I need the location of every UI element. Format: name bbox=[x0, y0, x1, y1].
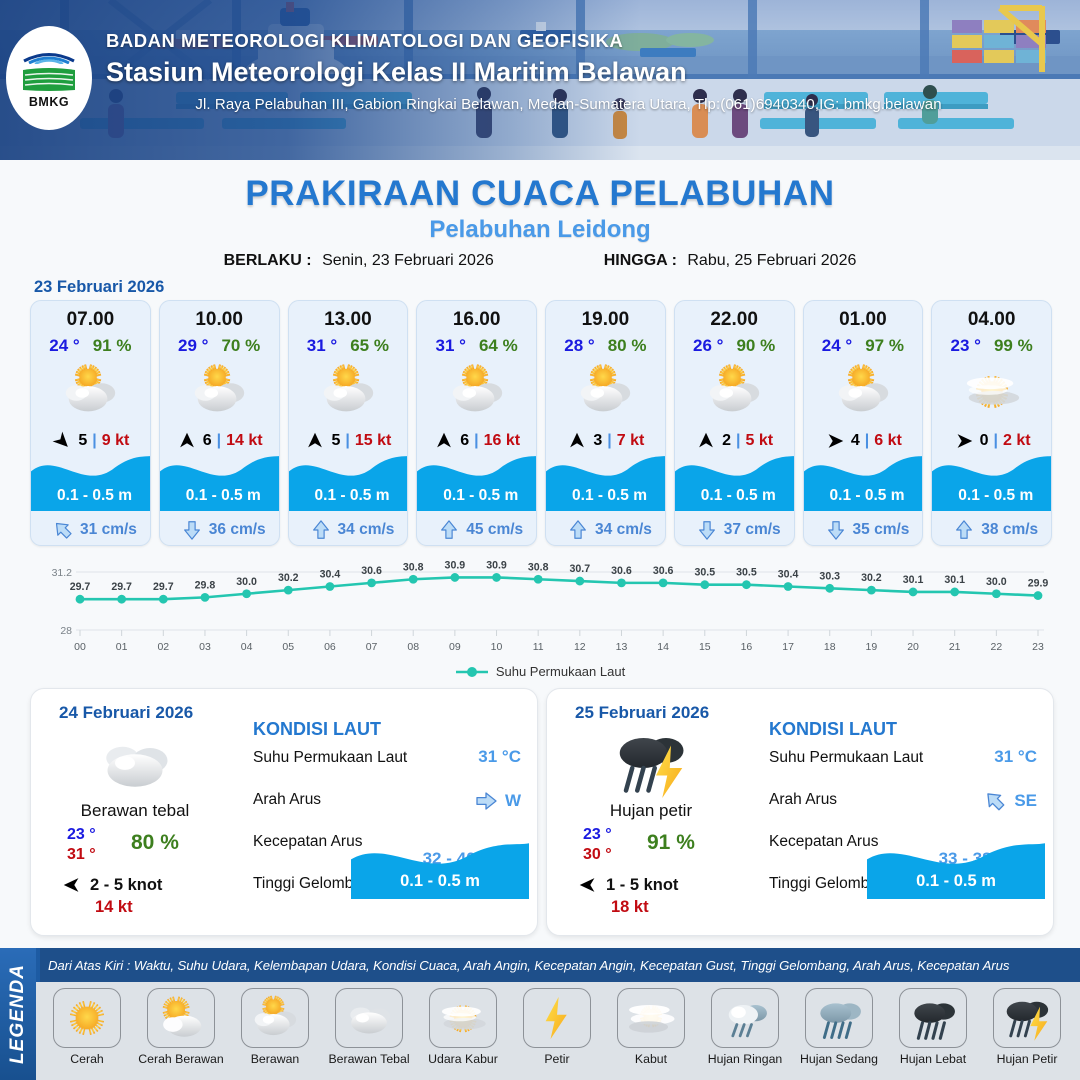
x-axis-tick: 13 bbox=[616, 641, 628, 653]
legend-item-label: Kabut bbox=[635, 1053, 667, 1067]
sst-line bbox=[80, 577, 1038, 599]
card-wave-height: 0.1 - 0.5 m bbox=[31, 487, 151, 505]
card-time: 07.00 bbox=[31, 309, 150, 331]
current-direction-arrow-s bbox=[310, 519, 332, 541]
panel-date: 24 Februari 2026 bbox=[59, 703, 193, 723]
x-axis-tick: 21 bbox=[949, 641, 961, 653]
card-air-temp: 23 ° bbox=[951, 336, 981, 356]
panel-wave-height: 0.1 - 0.5 m bbox=[867, 872, 1045, 891]
card-time: 04.00 bbox=[932, 309, 1051, 331]
legend-item-label: Petir bbox=[544, 1053, 569, 1067]
card-temp-hum: 24 ° 97 % bbox=[804, 336, 923, 356]
sst-point bbox=[242, 589, 251, 598]
x-axis-tick: 10 bbox=[491, 641, 503, 653]
moderate-rain-icon bbox=[813, 992, 865, 1044]
card-wave-height: 0.1 - 0.5 m bbox=[546, 487, 666, 505]
light-rain-icon bbox=[719, 992, 771, 1044]
panel-temp-max: 31 ° bbox=[67, 845, 96, 865]
sst-point bbox=[700, 580, 709, 589]
sst-point-label: 29.7 bbox=[70, 581, 91, 593]
sst-point-label: 30.0 bbox=[986, 576, 1007, 588]
x-axis-tick: 22 bbox=[991, 641, 1003, 653]
card-wave-height: 0.1 - 0.5 m bbox=[289, 487, 409, 505]
card-wave-graphic: 0.1 - 0.5 m bbox=[417, 449, 537, 511]
y-axis-tick-min: 28 bbox=[60, 625, 72, 637]
card-wave-graphic: 0.1 - 0.5 m bbox=[31, 449, 151, 511]
partly-cloudy-icon bbox=[317, 360, 379, 422]
sst-point bbox=[409, 575, 418, 584]
card-gust: 2 kt bbox=[1003, 432, 1031, 450]
panel-wave-graphic: 0.1 - 0.5 m bbox=[867, 837, 1045, 899]
panel-weather-icon bbox=[591, 727, 711, 799]
card-air-temp: 31 ° bbox=[307, 336, 337, 356]
current-direction-arrow-s bbox=[953, 519, 975, 541]
card-time: 22.00 bbox=[675, 309, 794, 331]
card-gust: 7 kt bbox=[617, 432, 645, 450]
chart-legend: Suhu Permukaan Laut bbox=[28, 664, 1052, 679]
card-wave-graphic: 0.1 - 0.5 m bbox=[675, 449, 795, 511]
card-wave-graphic: 0.1 - 0.5 m bbox=[932, 449, 1052, 511]
legend-item: Hujan Petir bbox=[980, 988, 1074, 1067]
valid-to-value: Rabu, 25 Februari 2026 bbox=[687, 252, 856, 269]
panel-humidity: 80 % bbox=[131, 831, 179, 855]
forecast-card: 22.00 26 ° 90 % 2 | 5 kt bbox=[674, 300, 795, 546]
x-axis-tick: 20 bbox=[907, 641, 919, 653]
card-current-speed: 34 cm/s bbox=[595, 521, 652, 539]
thunderstorm-icon bbox=[611, 723, 691, 803]
card-wave-height: 0.1 - 0.5 m bbox=[675, 487, 795, 505]
panel-row-label: Arah Arus bbox=[769, 791, 837, 809]
legend-item: Cerah bbox=[40, 988, 134, 1067]
panel-sea-title: KONDISI LAUT bbox=[769, 719, 897, 740]
card-humidity: 64 % bbox=[479, 336, 518, 356]
legend-item-icon-box bbox=[993, 988, 1061, 1048]
partly-cloudy-icon bbox=[59, 360, 121, 422]
card-humidity: 70 % bbox=[221, 336, 260, 356]
thunderstorm-icon bbox=[1001, 992, 1053, 1044]
lightning-icon bbox=[531, 992, 583, 1044]
wind-direction-arrow-e bbox=[61, 874, 83, 896]
x-axis-tick: 02 bbox=[157, 641, 169, 653]
sst-point bbox=[284, 586, 293, 595]
sst-point bbox=[617, 578, 626, 587]
card-wave-height: 0.1 - 0.5 m bbox=[932, 487, 1052, 505]
sst-point bbox=[117, 595, 126, 604]
heavy-rain-icon bbox=[907, 992, 959, 1044]
panel-condition: Berawan tebal bbox=[45, 801, 225, 821]
current-direction-arrow-s bbox=[438, 519, 460, 541]
sst-point-label: 30.6 bbox=[611, 565, 632, 577]
x-axis-tick: 19 bbox=[866, 641, 878, 653]
legend-item-label: Cerah bbox=[70, 1053, 104, 1067]
card-wind-separator: | bbox=[736, 432, 740, 450]
card-current: 45 cm/s bbox=[417, 519, 537, 541]
card-wave-height: 0.1 - 0.5 m bbox=[804, 487, 924, 505]
panel-row: Suhu Permukaan Laut31 °C bbox=[769, 745, 1041, 787]
panel-row: Arah Arus W bbox=[253, 787, 525, 829]
sst-point bbox=[159, 595, 168, 604]
legend-item: Hujan Ringan bbox=[698, 988, 792, 1067]
card-weather-icon bbox=[932, 358, 1051, 424]
sst-point bbox=[742, 580, 751, 589]
card-air-temp: 31 ° bbox=[436, 336, 466, 356]
sst-point bbox=[575, 577, 584, 586]
sst-point bbox=[76, 595, 85, 604]
card-temp-hum: 26 ° 90 % bbox=[675, 336, 794, 356]
x-axis-tick: 14 bbox=[657, 641, 669, 653]
card-temp-hum: 29 ° 70 % bbox=[160, 336, 279, 356]
card-wind-separator: | bbox=[92, 432, 96, 450]
sst-point bbox=[1034, 591, 1043, 600]
legend-item-icon-box bbox=[899, 988, 967, 1048]
valid-to-label: HINGGA : bbox=[604, 252, 677, 269]
card-humidity: 91 % bbox=[93, 336, 132, 356]
sst-point bbox=[659, 578, 668, 587]
panel-row-value: 31 °C bbox=[478, 747, 521, 767]
card-wind-speed: 5 bbox=[78, 432, 87, 450]
sst-point-label: 30.4 bbox=[320, 569, 341, 581]
sst-point bbox=[326, 582, 335, 591]
panel-temps: 23 ° 31 ° bbox=[67, 825, 96, 865]
sst-point bbox=[201, 593, 210, 602]
card-gust: 16 kt bbox=[484, 432, 520, 450]
sst-point-label: 30.9 bbox=[445, 559, 466, 571]
partly-cloudy-icon bbox=[249, 992, 301, 1044]
card-air-temp: 26 ° bbox=[693, 336, 723, 356]
logo-green-waves bbox=[21, 66, 77, 92]
panel-gust: 14 kt bbox=[95, 898, 133, 917]
panel-row-value-text: SE bbox=[1014, 791, 1037, 811]
panel-row-value: W bbox=[474, 789, 521, 813]
header-text-block: BADAN METEOROLOGI KLIMATOLOGI DAN GEOFIS… bbox=[106, 30, 1066, 113]
x-axis-tick: 00 bbox=[74, 641, 86, 653]
panel-row-value-text: 31 °C bbox=[994, 747, 1037, 767]
sst-point bbox=[367, 578, 376, 587]
sst-point-label: 29.9 bbox=[1028, 578, 1049, 590]
current-direction-arrow-s bbox=[567, 519, 589, 541]
card-weather-icon bbox=[675, 358, 794, 424]
panel-weather-icon bbox=[75, 727, 195, 799]
partly-cloudy-icon bbox=[446, 360, 508, 422]
sst-point-label: 30.3 bbox=[819, 570, 840, 582]
x-axis-tick: 11 bbox=[533, 641, 544, 653]
sst-point bbox=[534, 575, 543, 584]
panel-row-value: 31 °C bbox=[994, 747, 1037, 767]
panel-temps: 23 ° 30 ° bbox=[583, 825, 612, 865]
card-wave-graphic: 0.1 - 0.5 m bbox=[804, 449, 924, 511]
card-gust: 5 kt bbox=[746, 432, 774, 450]
card-time: 10.00 bbox=[160, 309, 279, 331]
forecast-card: 04.00 23 ° 99 % 0 | 2 kt bbox=[931, 300, 1052, 546]
sst-point-label: 29.7 bbox=[111, 581, 132, 593]
sst-point-label: 30.1 bbox=[903, 574, 924, 586]
x-axis-tick: 08 bbox=[407, 641, 419, 653]
legend-icon-row: Cerah Cerah Berawan bbox=[36, 982, 1080, 1080]
sst-point-label: 30.0 bbox=[236, 576, 257, 588]
partly-cloudy-icon bbox=[832, 360, 894, 422]
sst-point bbox=[825, 584, 834, 593]
x-axis-tick: 09 bbox=[449, 641, 461, 653]
panel-temp-min: 23 ° bbox=[583, 825, 612, 845]
panel-gust: 18 kt bbox=[611, 898, 649, 917]
panel-row-value-text: W bbox=[505, 791, 521, 811]
x-axis-tick: 03 bbox=[199, 641, 211, 653]
panel-row: Suhu Permukaan Laut31 °C bbox=[253, 745, 525, 787]
sst-point-label: 29.8 bbox=[195, 579, 216, 591]
forecast-card: 01.00 24 ° 97 % 4 | 6 kt bbox=[803, 300, 924, 546]
sst-point-label: 30.2 bbox=[278, 572, 299, 584]
legend-item-icon-box bbox=[523, 988, 591, 1048]
panel-row: Arah Arus SE bbox=[769, 787, 1041, 829]
sst-chart: 31.2280001020304050607080910111213141516… bbox=[28, 556, 1052, 686]
sunny-icon bbox=[61, 992, 113, 1044]
legend-item-label: Cerah Berawan bbox=[138, 1053, 223, 1067]
card-humidity: 97 % bbox=[865, 336, 904, 356]
current-direction-arrow-w bbox=[474, 789, 498, 813]
daily-panel-day1: 24 Februari 2026 Berawan tebal 23 ° 31 °… bbox=[30, 688, 538, 936]
legend-item: Hujan Sedang bbox=[792, 988, 886, 1067]
current-direction-arrow-se bbox=[983, 789, 1007, 813]
sst-point bbox=[950, 588, 959, 597]
validity-row: BERLAKU : Senin, 23 Februari 2026 HINGGA… bbox=[0, 252, 1080, 270]
legend-item-icon-box bbox=[335, 988, 403, 1048]
card-wind-separator: | bbox=[345, 432, 349, 450]
haze-icon bbox=[437, 992, 489, 1044]
sst-point-label: 30.7 bbox=[570, 563, 591, 575]
legend-item: Hujan Lebat bbox=[886, 988, 980, 1067]
x-axis-tick: 07 bbox=[366, 641, 378, 653]
legend-item-icon-box bbox=[617, 988, 685, 1048]
card-wave-graphic: 0.1 - 0.5 m bbox=[289, 449, 409, 511]
panel-wave-graphic: 0.1 - 0.5 m bbox=[351, 837, 529, 899]
card-wind-speed: 6 bbox=[460, 432, 469, 450]
legend-item-icon-box bbox=[711, 988, 779, 1048]
card-weather-icon bbox=[417, 358, 536, 424]
card-current: 37 cm/s bbox=[675, 519, 795, 541]
overcast-icon bbox=[343, 992, 395, 1044]
current-direction-arrow-n bbox=[696, 519, 718, 541]
legend-item-label: Berawan Tebal bbox=[328, 1053, 409, 1067]
card-air-temp: 29 ° bbox=[178, 336, 208, 356]
forecast-date-label: 23 Februari 2026 bbox=[34, 278, 164, 297]
card-weather-icon bbox=[31, 358, 150, 424]
x-axis-tick: 12 bbox=[574, 641, 586, 653]
valid-to: HINGGA : Rabu, 25 Februari 2026 bbox=[604, 252, 857, 270]
card-current-speed: 31 cm/s bbox=[80, 521, 137, 539]
legend-item: Cerah Berawan bbox=[134, 988, 228, 1067]
page-subtitle: Pelabuhan Leidong bbox=[0, 216, 1080, 244]
legend-item-icon-box bbox=[53, 988, 121, 1048]
legend-item-label: Berawan bbox=[251, 1053, 300, 1067]
logo-label: BMKG bbox=[29, 95, 69, 109]
card-air-temp: 24 ° bbox=[822, 336, 852, 356]
card-current: 34 cm/s bbox=[289, 519, 409, 541]
forecast-card: 07.00 24 ° 91 % 5 | 9 kt bbox=[30, 300, 151, 546]
card-wind-speed: 5 bbox=[331, 432, 340, 450]
panel-row-label: Kecepatan Arus bbox=[253, 833, 362, 851]
overcast-icon bbox=[95, 723, 175, 803]
card-wind-speed: 3 bbox=[593, 432, 602, 450]
card-wind-speed: 2 bbox=[722, 432, 731, 450]
card-wave-height: 0.1 - 0.5 m bbox=[417, 487, 537, 505]
daily-panel-day2: 25 Februari 2026 Hujan petir 23 ° 30 ° 9… bbox=[546, 688, 1054, 936]
sst-point-label: 30.2 bbox=[861, 572, 882, 584]
card-wave-graphic: 0.1 - 0.5 m bbox=[546, 449, 666, 511]
sun-cloud-icon bbox=[155, 992, 207, 1044]
card-current: 31 cm/s bbox=[31, 519, 151, 541]
card-current: 38 cm/s bbox=[932, 519, 1052, 541]
sst-point-label: 29.7 bbox=[153, 581, 174, 593]
sst-point-label: 30.5 bbox=[694, 567, 715, 579]
card-time: 13.00 bbox=[289, 309, 408, 331]
card-current-speed: 35 cm/s bbox=[853, 521, 910, 539]
current-direction-arrow-n bbox=[181, 519, 203, 541]
valid-from-value: Senin, 23 Februari 2026 bbox=[322, 252, 494, 269]
legend-item: Berawan bbox=[228, 988, 322, 1067]
card-gust: 15 kt bbox=[355, 432, 391, 450]
card-temp-hum: 23 ° 99 % bbox=[932, 336, 1051, 356]
sst-point-label: 30.8 bbox=[528, 561, 549, 573]
card-wind-separator: | bbox=[474, 432, 478, 450]
sst-chart-plot: 31.2280001020304050607080910111213141516… bbox=[28, 556, 1052, 660]
panel-wind: 2 - 5 knot bbox=[61, 874, 162, 896]
card-gust: 14 kt bbox=[226, 432, 262, 450]
legend-item-icon-box bbox=[429, 988, 497, 1048]
forecast-card-row: 07.00 24 ° 91 % 5 | 9 kt bbox=[30, 300, 1052, 550]
panel-row-label: Suhu Permukaan Laut bbox=[769, 749, 923, 767]
card-weather-icon bbox=[160, 358, 279, 424]
y-axis-tick-max: 31.2 bbox=[52, 567, 73, 579]
x-axis-tick: 23 bbox=[1032, 641, 1044, 653]
legend-item-label: Hujan Sedang bbox=[800, 1053, 878, 1067]
panel-row-value-text: 31 °C bbox=[478, 747, 521, 767]
card-current-speed: 37 cm/s bbox=[724, 521, 781, 539]
legend-item-icon-box bbox=[147, 988, 215, 1048]
card-current-speed: 34 cm/s bbox=[338, 521, 395, 539]
card-wind-speed: 6 bbox=[203, 432, 212, 450]
panel-row-value: SE bbox=[983, 789, 1037, 813]
card-current-speed: 36 cm/s bbox=[209, 521, 266, 539]
x-axis-tick: 17 bbox=[782, 641, 794, 653]
partly-cloudy-icon bbox=[574, 360, 636, 422]
panel-date: 25 Februari 2026 bbox=[575, 703, 709, 723]
sst-point bbox=[450, 573, 459, 582]
valid-from: BERLAKU : Senin, 23 Februari 2026 bbox=[224, 252, 494, 270]
legend-item: Petir bbox=[510, 988, 604, 1067]
panel-wind-range: 2 - 5 knot bbox=[90, 876, 162, 895]
header-banner: BMKG BADAN METEOROLOGI KLIMATOLOGI DAN G… bbox=[0, 0, 1080, 160]
card-humidity: 80 % bbox=[608, 336, 647, 356]
card-time: 19.00 bbox=[546, 309, 665, 331]
legend-item-label: Hujan Petir bbox=[997, 1053, 1058, 1067]
forecast-card: 10.00 29 ° 70 % 6 | 14 kt bbox=[159, 300, 280, 546]
current-direction-arrow-se bbox=[52, 519, 74, 541]
forecast-card: 19.00 28 ° 80 % 3 | 7 kt bbox=[545, 300, 666, 546]
panel-humidity: 91 % bbox=[647, 831, 695, 855]
partly-cloudy-icon bbox=[703, 360, 765, 422]
card-air-temp: 24 ° bbox=[49, 336, 79, 356]
fog-icon bbox=[625, 992, 677, 1044]
panel-row-label: Arah Arus bbox=[253, 791, 321, 809]
x-axis-tick: 05 bbox=[282, 641, 294, 653]
card-wave-height: 0.1 - 0.5 m bbox=[160, 487, 280, 505]
bmkg-logo: BMKG bbox=[6, 26, 92, 130]
sst-point-label: 30.6 bbox=[653, 565, 674, 577]
sst-point-label: 30.8 bbox=[403, 561, 424, 573]
sst-point-label: 30.4 bbox=[778, 569, 799, 581]
current-direction-arrow-n bbox=[825, 519, 847, 541]
sst-point bbox=[992, 589, 1001, 598]
card-gust: 9 kt bbox=[102, 432, 130, 450]
partly-cloudy-icon bbox=[188, 360, 250, 422]
card-time: 16.00 bbox=[417, 309, 536, 331]
card-current: 35 cm/s bbox=[804, 519, 924, 541]
x-axis-tick: 15 bbox=[699, 641, 711, 653]
sst-point-label: 30.1 bbox=[944, 574, 965, 586]
forecast-card: 16.00 31 ° 64 % 6 | 16 kt bbox=[416, 300, 537, 546]
legend-footer: LEGENDA Dari Atas Kiri : Waktu, Suhu Uda… bbox=[0, 948, 1080, 1080]
station-address: Jl. Raya Pelabuhan III, Gabion Ringkai B… bbox=[106, 96, 1031, 113]
panel-condition: Hujan petir bbox=[561, 801, 741, 821]
panel-row-label: Kecepatan Arus bbox=[769, 833, 878, 851]
card-current-speed: 38 cm/s bbox=[981, 521, 1038, 539]
sst-point-label: 30.6 bbox=[361, 565, 382, 577]
x-axis-tick: 01 bbox=[116, 641, 128, 653]
card-temp-hum: 31 ° 65 % bbox=[289, 336, 408, 356]
sst-point-label: 30.5 bbox=[736, 567, 757, 579]
card-wind-separator: | bbox=[865, 432, 869, 450]
card-humidity: 99 % bbox=[994, 336, 1033, 356]
card-weather-icon bbox=[804, 358, 923, 424]
agency-name: BADAN METEOROLOGI KLIMATOLOGI DAN GEOFIS… bbox=[106, 30, 1066, 52]
logo-sky-arcs bbox=[22, 48, 76, 64]
panel-temp-min: 23 ° bbox=[67, 825, 96, 845]
forecast-card: 13.00 31 ° 65 % 5 | 15 kt bbox=[288, 300, 409, 546]
sst-point bbox=[867, 586, 876, 595]
card-current-speed: 45 cm/s bbox=[466, 521, 523, 539]
card-time: 01.00 bbox=[804, 309, 923, 331]
legend-item-label: Hujan Lebat bbox=[900, 1053, 966, 1067]
card-air-temp: 28 ° bbox=[564, 336, 594, 356]
haze-icon bbox=[961, 360, 1023, 422]
wind-direction-arrow-e bbox=[577, 874, 599, 896]
valid-from-label: BERLAKU : bbox=[224, 252, 312, 269]
x-axis-tick: 04 bbox=[241, 641, 253, 653]
panel-wind-range: 1 - 5 knot bbox=[606, 876, 678, 895]
legend-item: Kabut bbox=[604, 988, 698, 1067]
panel-sea-title: KONDISI LAUT bbox=[253, 719, 381, 740]
legend-item: Berawan Tebal bbox=[322, 988, 416, 1067]
panel-row-label: Suhu Permukaan Laut bbox=[253, 749, 407, 767]
card-humidity: 90 % bbox=[736, 336, 775, 356]
x-axis-tick: 06 bbox=[324, 641, 336, 653]
card-humidity: 65 % bbox=[350, 336, 389, 356]
card-weather-icon bbox=[546, 358, 665, 424]
panel-temp-max: 30 ° bbox=[583, 845, 612, 865]
sst-point-label: 30.9 bbox=[486, 559, 507, 571]
legend-item: Udara Kabur bbox=[416, 988, 510, 1067]
legend-tab: LEGENDA bbox=[0, 948, 36, 1080]
panel-wind: 1 - 5 knot bbox=[577, 874, 678, 896]
sst-point bbox=[909, 588, 918, 597]
card-current: 36 cm/s bbox=[160, 519, 280, 541]
card-wind-separator: | bbox=[217, 432, 221, 450]
card-current: 34 cm/s bbox=[546, 519, 666, 541]
legend-item-icon-box bbox=[241, 988, 309, 1048]
card-wind-speed: 4 bbox=[851, 432, 860, 450]
legend-item-icon-box bbox=[805, 988, 873, 1048]
legend-note: Dari Atas Kiri : Waktu, Suhu Udara, Kele… bbox=[40, 948, 1080, 982]
